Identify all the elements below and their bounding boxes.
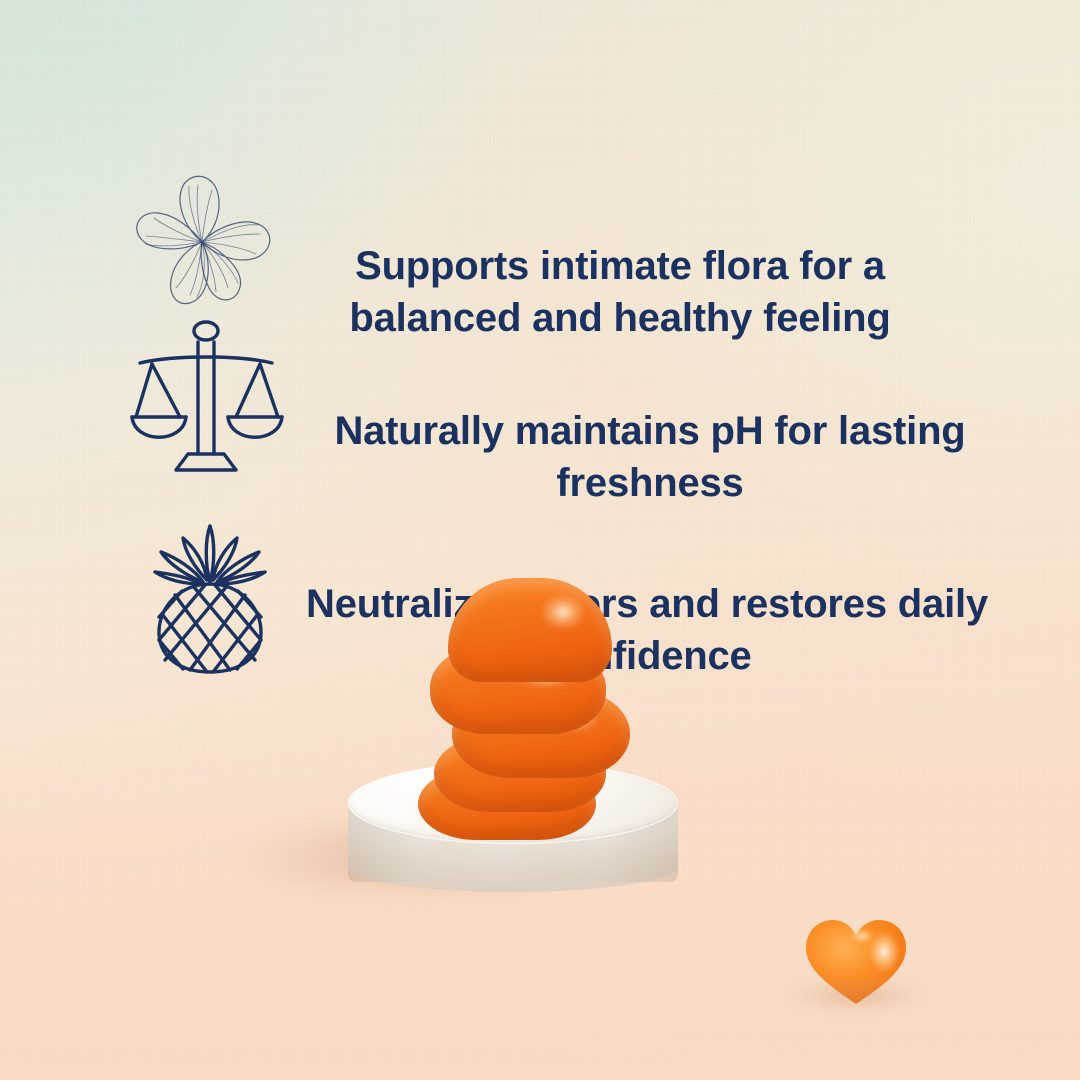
heart-gummy-shadow [786,978,926,1012]
product-benefits-graphic: Supports intimate flora for a balanced a… [0,0,1080,1080]
loose-heart-gummy [800,912,912,1010]
product-scene [0,0,1080,1080]
gummy-piece-top [448,578,612,682]
